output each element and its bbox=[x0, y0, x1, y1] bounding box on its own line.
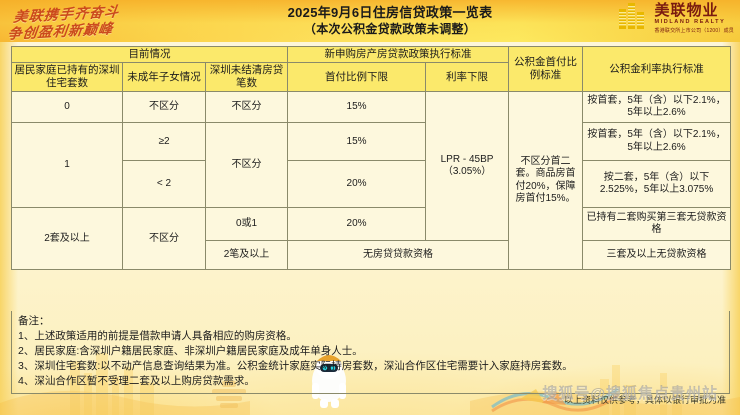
cell-minor-children: 不区分 bbox=[123, 208, 206, 270]
cell-fund-rate: 按首套，5年（含）以下2.1%，5年以上2.6% bbox=[583, 123, 731, 161]
notes-block: 备注： 1、上述政策适用的前提是借款申请人具备相应的购房资格。 2、居民家庭:含… bbox=[11, 311, 730, 394]
cell-rate-floor: LPR - 45BP （3.05%） bbox=[426, 92, 509, 241]
table-row: 2套及以上 不区分 0或1 20% 已持有二套购买第三套无贷款资格 bbox=[12, 208, 731, 241]
cell-unsettled-loans: 2笔及以上 bbox=[206, 241, 288, 270]
header-fund-downpayment: 公积金首付比例标准 bbox=[509, 47, 583, 92]
logo-company-name-en: MIDLAND REALTY bbox=[654, 20, 734, 26]
cell-downpayment-floor: 20% bbox=[288, 161, 426, 208]
disclaimer-text: 以上资料仅供参考，具体以银行审批为准 bbox=[564, 393, 726, 406]
table-header-group-row: 目前情况 新申购房产房贷款政策执行标准 公积金首付比例标准 公积金利率执行标准 bbox=[12, 47, 731, 63]
header-current-situation: 目前情况 bbox=[12, 47, 288, 63]
table-row: 0 不区分 不区分 15% LPR - 45BP （3.05%） 不区分首二套。… bbox=[12, 92, 731, 123]
cell-downpayment-floor: 20% bbox=[288, 208, 426, 241]
cell-unsettled-loans: 0或1 bbox=[206, 208, 288, 241]
logo-text-block: 美联物业 MIDLAND REALTY 香港联交所上市公司（1200）成员 bbox=[654, 3, 734, 34]
page-title: 2025年9月6日住房信贷政策一览表 （本次公积金贷款政策未调整） bbox=[200, 5, 580, 37]
midland-building-icon bbox=[619, 3, 649, 29]
note-item-4: 4、深汕合作区暂不受理二套及以上购房贷款需求。 bbox=[18, 374, 723, 389]
policy-table-container: 目前情况 新申购房产房贷款政策执行标准 公积金首付比例标准 公积金利率执行标准 … bbox=[11, 46, 730, 270]
page-title-line-2: （本次公积金贷款政策未调整） bbox=[200, 21, 580, 37]
cell-minor-children: ≥2 bbox=[123, 123, 206, 161]
cell-minor-children: < 2 bbox=[123, 161, 206, 208]
table-body: 0 不区分 不区分 15% LPR - 45BP （3.05%） 不区分首二套。… bbox=[12, 92, 731, 270]
cell-owned-units: 0 bbox=[12, 92, 123, 123]
page-title-line-1: 2025年9月6日住房信贷政策一览表 bbox=[200, 5, 580, 21]
header-new-mortgage-policy: 新申购房产房贷款政策执行标准 bbox=[288, 47, 509, 63]
notes-label: 备注： bbox=[18, 314, 723, 329]
rate-floor-line-1: LPR - 45BP bbox=[441, 154, 494, 165]
logo-company-name-cn: 美联物业 bbox=[654, 3, 734, 18]
company-logo: 美联物业 MIDLAND REALTY 香港联交所上市公司（1200）成员 bbox=[619, 3, 734, 39]
logo-subtitle: 香港联交所上市公司（1200）成员 bbox=[654, 29, 734, 34]
header-downpayment-floor: 首付比例下限 bbox=[288, 63, 426, 92]
table-header: 目前情况 新申购房产房贷款政策执行标准 公积金首付比例标准 公积金利率执行标准 … bbox=[12, 47, 731, 92]
note-item-3: 3、深圳住宅套数:以不动产信息查询结果为准。公积金统计家庭实际持房套数，深汕合作… bbox=[18, 359, 723, 374]
cell-fund-rate: 按二套，5年（含）以下2.525%，5年以上3.075% bbox=[583, 161, 731, 208]
cell-minor-children: 不区分 bbox=[123, 92, 206, 123]
cell-downpayment-floor: 15% bbox=[288, 123, 426, 161]
cell-owned-units: 2套及以上 bbox=[12, 208, 123, 270]
calligraphy-line-2: 争创盈利新巅峰 bbox=[6, 18, 114, 43]
cell-fund-rate: 按首套，5年（含）以下2.1%，5年以上2.6% bbox=[583, 92, 731, 123]
table-row: 1 ≥2 不区分 15% 按首套，5年（含）以下2.1%，5年以上2.6% bbox=[12, 123, 731, 161]
note-item-2: 2、居民家庭:含深圳户籍居民家庭、非深圳户籍居民家庭及成年单身人士。 bbox=[18, 344, 723, 359]
rate-floor-line-2: （3.05%） bbox=[443, 166, 491, 177]
header-minor-children: 未成年子女情况 bbox=[123, 63, 206, 92]
cell-unsettled-loans: 不区分 bbox=[206, 92, 288, 123]
cell-downpayment-floor: 无房贷贷款资格 bbox=[288, 241, 509, 270]
cell-downpayment-floor: 15% bbox=[288, 92, 426, 123]
cell-fund-rate: 三套及以上无贷款资格 bbox=[583, 241, 731, 270]
header-fund-rate: 公积金利率执行标准 bbox=[583, 47, 731, 92]
cell-owned-units: 1 bbox=[12, 123, 123, 208]
header-owned-units: 居民家庭已持有的深圳住宅套数 bbox=[12, 63, 123, 92]
cell-fund-downpayment: 不区分首二套。商品房首付20%，保障房首付15%。 bbox=[509, 92, 583, 270]
housing-credit-policy-table: 目前情况 新申购房产房贷款政策执行标准 公积金首付比例标准 公积金利率执行标准 … bbox=[11, 46, 731, 270]
calligraphy-slogan: 美联携手齐奋斗 争创盈利新巅峰 bbox=[6, 2, 176, 42]
header-unsettled-loans: 深圳未结清房贷笔数 bbox=[206, 63, 288, 92]
cell-unsettled-loans: 不区分 bbox=[206, 123, 288, 208]
cell-fund-rate: 已持有二套购买第三套无贷款资格 bbox=[583, 208, 731, 241]
header-rate-floor: 利率下限 bbox=[426, 63, 509, 92]
note-item-1: 1、上述政策适用的前提是借款申请人具备相应的购房资格。 bbox=[18, 329, 723, 344]
